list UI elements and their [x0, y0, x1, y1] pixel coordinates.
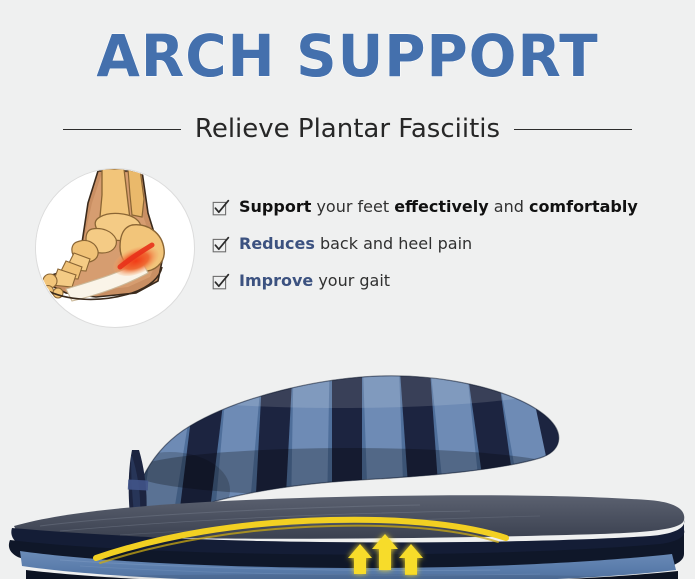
divider-right	[514, 129, 632, 130]
list-item-label: Support your feet effectively and comfor…	[239, 197, 638, 217]
list-item: Improve your gait	[212, 271, 682, 291]
segment-strong: Improve	[239, 271, 313, 290]
foot-anatomy-icon	[36, 169, 192, 325]
list-item: Support your feet effectively and comfor…	[212, 197, 682, 217]
page-title: ARCH SUPPORT	[10, 26, 684, 86]
sandal-illustration	[0, 330, 695, 579]
segment-strong: Support	[239, 197, 311, 216]
foot-anatomy-illustration	[35, 168, 195, 328]
list-item-label: Reduces back and heel pain	[239, 234, 472, 254]
segment-regular: back and heel pain	[315, 234, 472, 253]
product-image	[0, 330, 695, 579]
sandal-sole	[9, 495, 684, 579]
list-item: Reduces back and heel pain	[212, 234, 682, 254]
divider-left	[63, 129, 181, 130]
feature-list: Support your feet effectively and comfor…	[212, 197, 682, 308]
checkbox-checked-icon	[212, 236, 230, 254]
checkbox-checked-icon	[212, 199, 230, 217]
segment-regular: and	[489, 197, 529, 216]
phalange-2	[43, 286, 54, 297]
segment-strong: effectively	[394, 197, 488, 216]
checkbox-checked-icon	[212, 273, 230, 291]
arch-pressure-arrows	[348, 534, 423, 575]
subtitle-block: Relieve Plantar Fasciitis	[0, 114, 695, 144]
list-item-label: Improve your gait	[239, 271, 390, 291]
segment-regular: your gait	[313, 271, 390, 290]
segment-strong: Reduces	[239, 234, 315, 253]
subtitle-text: Relieve Plantar Fasciitis	[195, 114, 500, 144]
segment-strong: comfortably	[529, 197, 638, 216]
segment-regular: your feet	[311, 197, 394, 216]
title-block: ARCH SUPPORT	[0, 26, 695, 86]
product-feature-banner: ARCH SUPPORT Relieve Plantar Fasciitis	[0, 0, 695, 579]
